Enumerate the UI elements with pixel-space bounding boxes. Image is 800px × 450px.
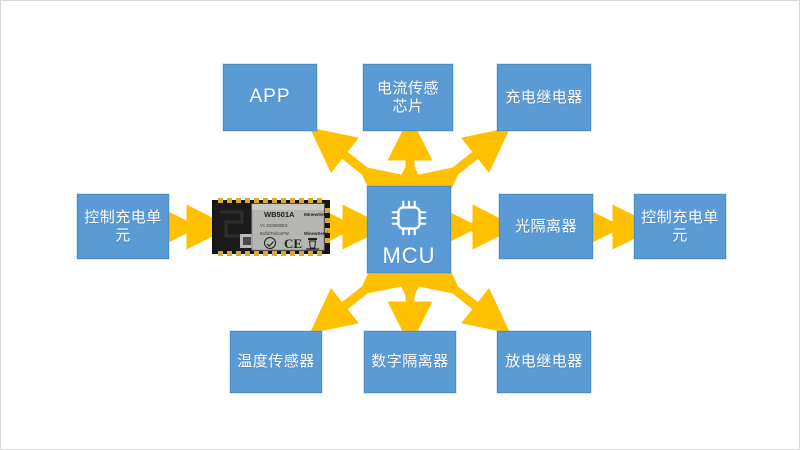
node-digital-isolator[interactable]: 数字隔离器 (364, 331, 456, 393)
node-discharge-relay[interactable]: 放电继电器 (497, 331, 591, 393)
svg-text:CE: CE (284, 236, 302, 251)
node-temperature-sensor-label: 温度传感器 (231, 353, 321, 371)
node-digital-isolator-label: 数字隔离器 (365, 353, 455, 371)
arrow-mcu-temperature-sensor (319, 273, 385, 327)
node-mcu[interactable]: MCU (367, 186, 451, 273)
node-control-charge-unit-right-label: 控制充电单元 (635, 209, 725, 244)
arrow-mcu-discharge-relay (435, 273, 501, 327)
svg-text:WB501A: WB501A (264, 210, 295, 219)
arrow-mcu-charge-relay (435, 134, 501, 188)
node-mcu-label: MCU (376, 243, 441, 269)
node-control-charge-unit-left[interactable]: 控制充电单元 (77, 194, 169, 259)
node-current-sense-chip[interactable]: 电流传感芯片 (363, 64, 453, 131)
arrow-mcu-opto-isolator (449, 213, 501, 241)
arrow-mcu-app (319, 134, 385, 188)
wireless-module-photo: WB501A MinewSemi V1 ZS4500001 Build/Tel/… (212, 198, 330, 256)
node-app-label: APP (243, 86, 296, 108)
node-charge-relay[interactable]: 充电继电器 (497, 64, 591, 131)
node-control-charge-unit-right[interactable]: 控制充电单元 (634, 194, 726, 259)
arrow-mcu-current-sense-chip (395, 131, 425, 189)
arrow-mcu-digital-isolator (395, 273, 425, 331)
node-control-charge-unit-left-label: 控制充电单元 (78, 209, 168, 244)
node-opto-isolator-label: 光隔离器 (509, 218, 583, 236)
svg-text:MinewSemi: MinewSemi (304, 231, 328, 236)
node-temperature-sensor[interactable]: 温度传感器 (230, 331, 322, 393)
svg-text:MinewSemi: MinewSemi (304, 212, 329, 217)
node-current-sense-chip-label: 电流传感芯片 (364, 80, 452, 115)
node-charge-relay-label: 充电继电器 (499, 89, 589, 107)
arrow-module-mcu (327, 213, 371, 241)
node-app[interactable]: APP (223, 64, 317, 131)
microchip-icon (386, 195, 432, 241)
diagram-canvas: APP 电流传感芯片 充电继电器 控制充电单元 (0, 0, 800, 450)
arrow-control-unit-left-module (169, 213, 215, 241)
ce-mark: CE (284, 236, 302, 251)
svg-text:V1 ZS4500001: V1 ZS4500001 (260, 223, 289, 228)
node-discharge-relay-label: 放电继电器 (499, 353, 589, 371)
node-opto-isolator[interactable]: 光隔离器 (499, 194, 593, 259)
